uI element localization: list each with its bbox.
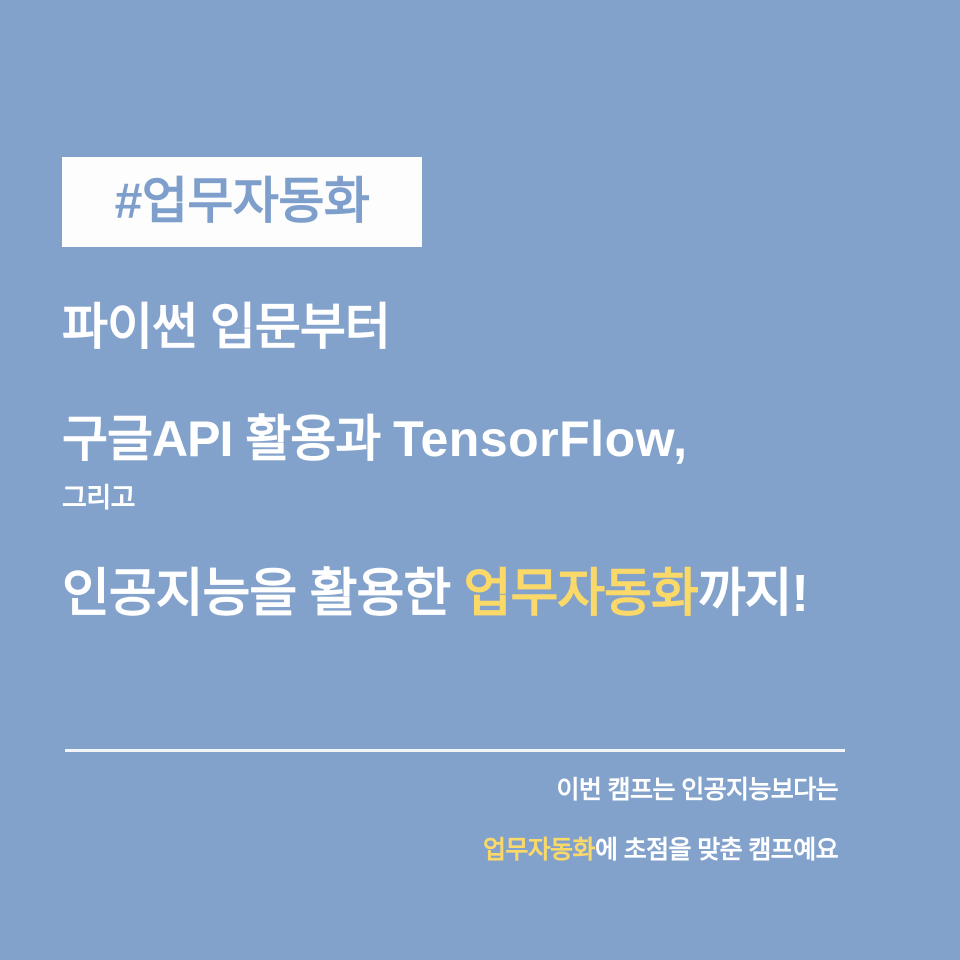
horizontal-divider xyxy=(65,749,845,752)
headline-block: 파이썬 입문부터 구글API 활용과 TensorFlow, 그리고 인공지능을… xyxy=(62,300,922,622)
footer-line-2-rest: 에 초점을 맞춘 캠프예요 xyxy=(595,836,838,864)
footer-block: 이번 캠프는 인공지능보다는 업무자동화에 초점을 맞춘 캠프예요 xyxy=(483,775,838,865)
footer-line-2: 업무자동화에 초점을 맞춘 캠프예요 xyxy=(483,835,838,865)
headline-line-4: 인공지능을 활용한 업무자동화까지! xyxy=(62,566,922,622)
headline-line-3-small: 그리고 xyxy=(62,484,922,514)
headline-line-2: 구글API 활용과 TensorFlow, xyxy=(62,412,922,466)
headline-line-1: 파이썬 입문부터 xyxy=(62,300,922,354)
footer-line-1: 이번 캠프는 인공지능보다는 xyxy=(483,775,838,805)
headline-line-2-korean: 구글API 활용과 xyxy=(62,411,393,467)
headline-line-4-prefix: 인공지능을 활용한 xyxy=(62,565,464,623)
headline-line-2-latin: TensorFlow, xyxy=(393,411,687,467)
footer-line-2-accent: 업무자동화 xyxy=(483,836,595,864)
hashtag-badge-label: #업무자동화 xyxy=(115,176,370,226)
promo-poster: #업무자동화 파이썬 입문부터 구글API 활용과 TensorFlow, 그리… xyxy=(0,0,960,960)
headline-line-4-accent: 업무자동화 xyxy=(464,565,698,623)
headline-line-4-suffix: 까지! xyxy=(698,565,808,623)
hashtag-badge: #업무자동화 xyxy=(62,157,422,247)
